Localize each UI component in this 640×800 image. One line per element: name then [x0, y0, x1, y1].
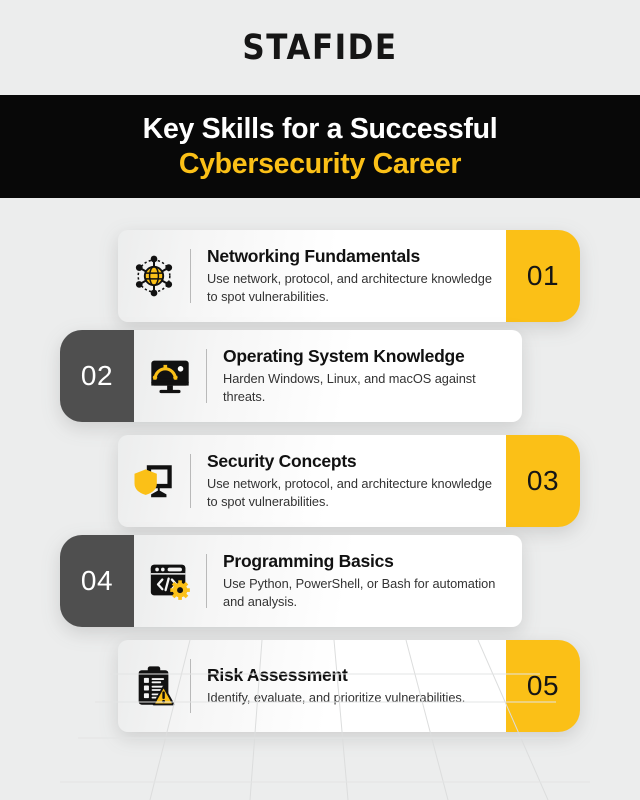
- skill-row[interactable]: 04: [60, 535, 522, 627]
- skill-number-badge: 05: [506, 640, 580, 732]
- skill-title: Networking Fundamentals: [207, 246, 498, 268]
- skill-text-block: Programming BasicsUse Python, PowerShell…: [223, 551, 522, 610]
- page-title-line-1: Key Skills for a Successful: [143, 113, 498, 146]
- skill-title: Operating System Knowledge: [223, 346, 514, 368]
- skill-description: Use network, protocol, and architecture …: [207, 475, 498, 510]
- network-globe-icon: [131, 253, 177, 299]
- code-window-gear-icon: [147, 558, 193, 604]
- skill-card[interactable]: Programming BasicsUse Python, PowerShell…: [134, 535, 522, 627]
- card-divider: [206, 349, 207, 403]
- skill-text-block: Security ConceptsUse network, protocol, …: [207, 451, 506, 510]
- skill-text-block: Networking FundamentalsUse network, prot…: [207, 246, 506, 305]
- brand-logo: STAFIDE: [242, 27, 397, 67]
- skill-number: 04: [81, 565, 113, 597]
- network-globe-icon-slot: [118, 253, 190, 299]
- shield-monitor-icon: [131, 458, 177, 504]
- title-band: Key Skills for a Successful Cybersecurit…: [0, 95, 640, 198]
- skill-number-badge: 02: [60, 330, 134, 422]
- card-divider: [190, 454, 191, 508]
- monitor-gear-icon: [147, 353, 193, 399]
- code-window-gear-icon-slot: [134, 558, 206, 604]
- skill-title: Risk Assessment: [207, 665, 498, 687]
- skill-text-block: Risk AssessmentIdentify, evaluate, and p…: [207, 665, 506, 707]
- skill-title: Programming Basics: [223, 551, 514, 573]
- skill-card[interactable]: Security ConceptsUse network, protocol, …: [118, 435, 506, 527]
- monitor-gear-icon-slot: [134, 353, 206, 399]
- skills-list: Networking FundamentalsUse network, prot…: [0, 198, 640, 738]
- skill-description: Use Python, PowerShell, or Bash for auto…: [223, 575, 514, 610]
- skill-row[interactable]: Risk AssessmentIdentify, evaluate, and p…: [118, 640, 580, 732]
- skill-number-badge: 03: [506, 435, 580, 527]
- skill-card[interactable]: Risk AssessmentIdentify, evaluate, and p…: [118, 640, 506, 732]
- skill-number: 05: [527, 670, 559, 702]
- clipboard-warning-icon: [131, 663, 177, 709]
- infographic-poster: STAFIDE Key Skills for a Successful Cybe…: [0, 0, 640, 800]
- shield-monitor-icon-slot: [118, 458, 190, 504]
- card-divider: [190, 249, 191, 303]
- skill-number-badge: 01: [506, 230, 580, 322]
- skill-number-badge: 04: [60, 535, 134, 627]
- skill-card[interactable]: Operating System KnowledgeHarden Windows…: [134, 330, 522, 422]
- logo-band: STAFIDE: [0, 0, 640, 95]
- card-divider: [206, 554, 207, 608]
- skill-number: 02: [81, 360, 113, 392]
- skill-number: 01: [527, 260, 559, 292]
- skill-row[interactable]: 02 Operating System KnowledgeHa: [60, 330, 522, 422]
- skill-title: Security Concepts: [207, 451, 498, 473]
- skill-text-block: Operating System KnowledgeHarden Windows…: [223, 346, 522, 405]
- skill-number: 03: [527, 465, 559, 497]
- clipboard-warning-icon-slot: [118, 663, 190, 709]
- page-title-line-2: Cybersecurity Career: [179, 148, 461, 181]
- skill-description: Use network, protocol, and architecture …: [207, 270, 498, 305]
- skill-card[interactable]: Networking FundamentalsUse network, prot…: [118, 230, 506, 322]
- card-divider: [190, 659, 191, 713]
- skill-row[interactable]: Networking FundamentalsUse network, prot…: [118, 230, 580, 322]
- skill-description: Harden Windows, Linux, and macOS against…: [223, 370, 514, 405]
- skill-row[interactable]: Security ConceptsUse network, protocol, …: [118, 435, 580, 527]
- skill-description: Identify, evaluate, and prioritize vulne…: [207, 689, 498, 707]
